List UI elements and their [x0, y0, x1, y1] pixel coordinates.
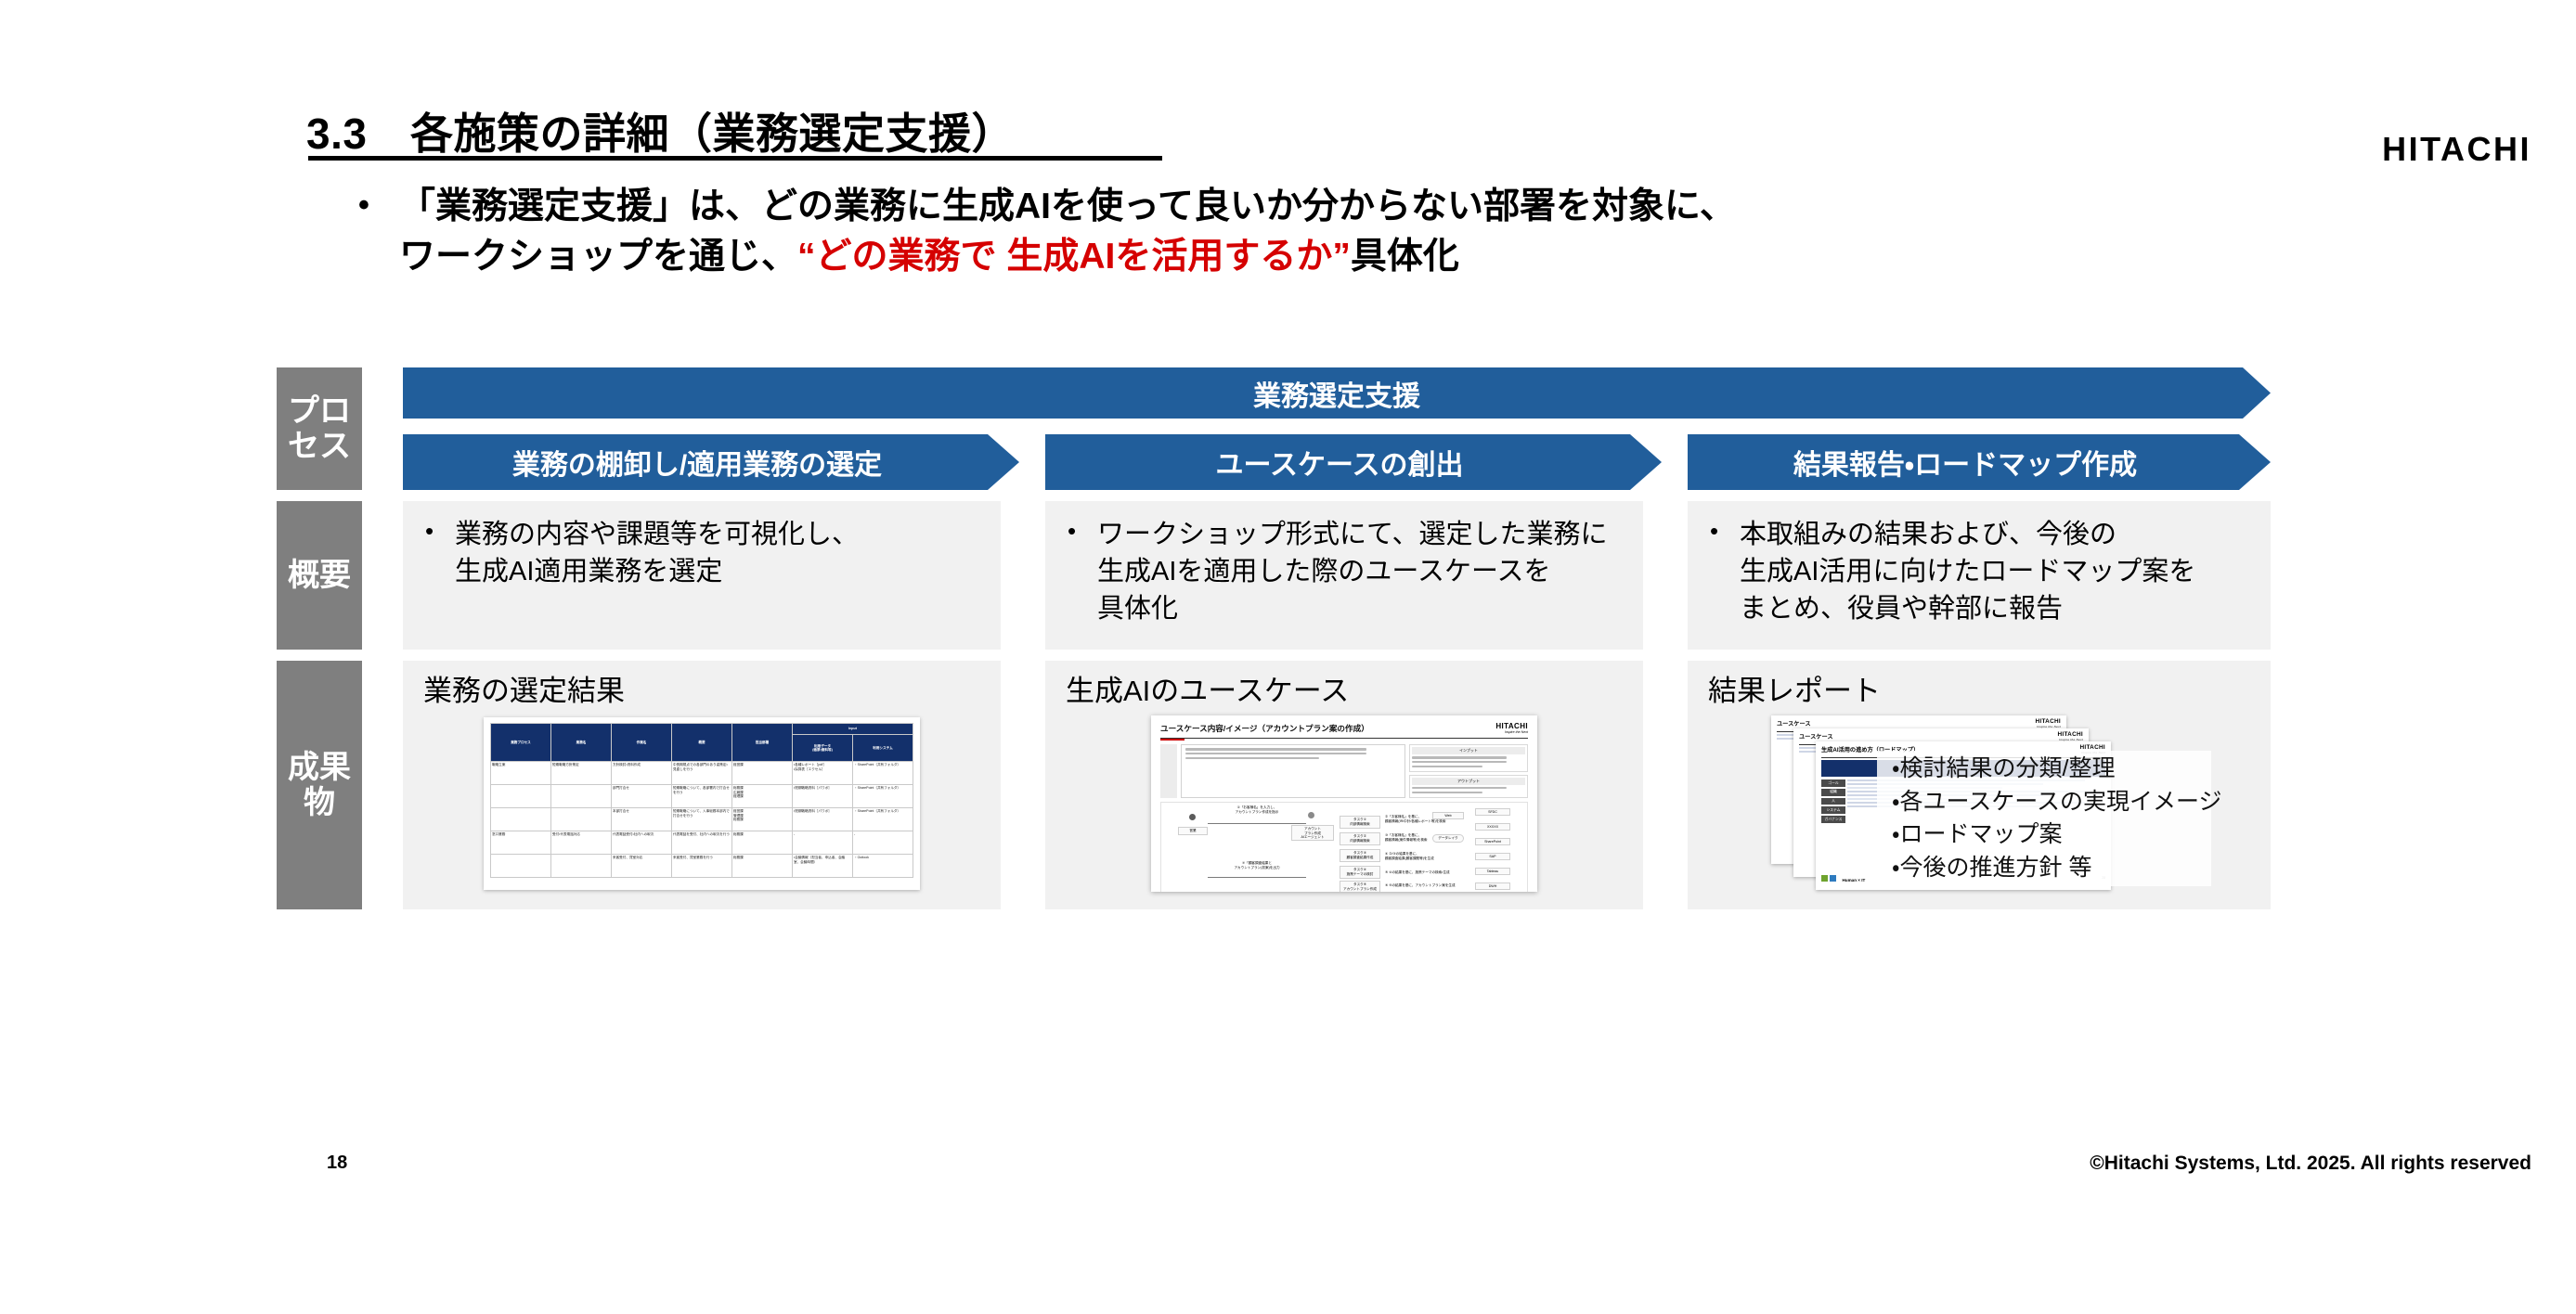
system-node-2: XXXXX — [1475, 823, 1510, 831]
system-node-3: SharePoint — [1475, 838, 1510, 845]
chip-governance: ガバナンス — [1821, 816, 1845, 823]
thumbnail-usecase-slide[interactable]: ユースケース内容/イメージ（アカウントプラン案の作成） HITACHIInspi… — [1151, 715, 1537, 892]
lead-line-1: 「業務選定支援」は、どの業務に生成AIを使って良いか分からない部署を対象に、 — [399, 187, 1736, 226]
table-row: 部門打合せ短期戦略について、各部署内で打合せを行う総務課 広報課 経理課・短期戦… — [491, 785, 913, 808]
matrix-row-overview: 概要 •業務の内容や課題等を可視化し、 生成AI適用業務を選定 •ワークショップ… — [277, 501, 2271, 650]
th-summary: 概要 — [672, 724, 732, 762]
deliverable-cell-3: 結果レポート ユースケース HITACHIInspire the Next — [1688, 661, 2271, 909]
usecase-flow-diagram: 営業 アカウント プラン作成 AIエージェント タスク① 内部情報検索 タスク②… — [1160, 802, 1528, 892]
step-text-5: ⑤ ④の結果を基に、施策テーマの検索・生成 — [1384, 870, 1471, 876]
matrix-row-deliverable: 成果物 業務の選定結果 業務プロセス 業務名 作業名 概要 — [277, 661, 2271, 909]
chip-system: システム — [1821, 806, 1845, 814]
system-node-4: SAP — [1475, 853, 1510, 860]
th-dept: 担当部署 — [732, 724, 793, 762]
logo-squares: Human × IT — [1821, 870, 1865, 886]
th-group-input: Input — [793, 724, 913, 735]
step-text-1: ①「お客様名」を入力し、 アカウントプラン作成を指示 — [1213, 805, 1301, 816]
chip-org: 組織 — [1821, 789, 1845, 796]
th-data: 利用データ (帳票・資料等) — [793, 735, 853, 762]
web-node: Web — [1432, 812, 1464, 819]
process-step-2[interactable]: ユースケースの創出 — [1045, 434, 1662, 490]
overview-text-2: ワークショップ形式にて、選定した業務に 生成AIを適用した際のユースケースを 具… — [1097, 520, 1608, 624]
th-taskname: 業務名 — [551, 724, 612, 762]
task-inventory-table: 業務プロセス 業務名 作業名 概要 担当部署 Input 利用データ (帳票・資… — [490, 723, 913, 878]
th-system: 利用システム — [853, 735, 913, 762]
system-node-1: SFDC — [1475, 808, 1510, 816]
bullet-glyph: • — [358, 184, 369, 227]
overlay-item-2: ・各ユースケースの実現イメージ — [1892, 786, 2211, 819]
overview-cell-3: •本取組みの結果および、今後の 生成AI活用に向けたロードマップ案を まとめ、役… — [1688, 501, 2271, 650]
hitachi-logo: HITACHI — [2382, 130, 2531, 169]
roadmap-chip-column: ゴール 組織 人 システム ガバナンス — [1821, 779, 1845, 825]
footer-copyright: ©Hitachi Systems, Ltd. 2025. All rights … — [2090, 1153, 2531, 1175]
row-label-deliverable: 成果物 — [277, 661, 362, 909]
input-box: インプット — [1409, 744, 1528, 772]
task-table-body: 戦略立案短期戦略方針策定方針検討・資料作成中長期視点での各部門のあり姿策定・見直… — [491, 762, 913, 878]
process-matrix: プロセス 業務選定支援 業務の棚卸し/適用業務の選定 ユースケースの創出 結果報… — [277, 367, 2271, 909]
title-underline — [308, 156, 1162, 161]
task-node-2: タスク② 内部情報検索 — [1340, 832, 1380, 845]
overlay-item-4: ・今後の推進方針 等 — [1892, 852, 2211, 885]
deliverable-cell-1: 業務の選定結果 業務プロセス 業務名 作業名 概要 担当部署 — [403, 661, 1001, 909]
person-icon — [1189, 814, 1196, 820]
actor-node: 営業 — [1178, 827, 1208, 835]
usecase-summary-box — [1181, 744, 1405, 798]
page-number: 18 — [327, 1153, 347, 1174]
divider — [1160, 738, 1528, 739]
bullet-glyph: • — [1710, 515, 1718, 548]
bullet-glyph: • — [425, 515, 434, 548]
task-node-4: タスク④ 施策テーマの検討 — [1340, 866, 1380, 879]
overlay-item-3: ・ロードマップ案 — [1892, 818, 2211, 852]
process-step-1[interactable]: 業務の棚卸し/適用業務の選定 — [403, 434, 1019, 490]
row-label-overview: 概要 — [277, 501, 362, 650]
process-step-3[interactable]: 結果報告・ロードマップ作成 — [1688, 434, 2271, 490]
hitachi-logo: HITACHIInspire the Next — [1495, 723, 1528, 734]
overview-cell-2: •ワークショップ形式にて、選定した業務に 生成AIを適用した際のユースケースを … — [1045, 501, 1643, 650]
th-process: 業務プロセス — [491, 724, 551, 762]
deliverable-title-2: 生成AIのユースケース — [1066, 674, 1626, 708]
row-label-process: プロセス — [277, 367, 362, 490]
th-workname: 作業名 — [612, 724, 672, 762]
hitachi-logo: HITACHIInspire the Next — [2057, 732, 2083, 741]
thumbnail-task-table[interactable]: 業務プロセス 業務名 作業名 概要 担当部署 Input 利用データ (帳票・資… — [484, 717, 920, 890]
step-text-6: ⑥ ⑤の結果を基に、アカウントプラン案を生成 — [1384, 882, 1471, 889]
deliverable-title-3: 結果レポート — [1708, 674, 2254, 708]
human-it-label: Human × IT — [1842, 878, 1865, 882]
table-row: 来客受付、貸室対応来客受付、貸室業務を行う総務課・会議情報（担当者、申込者、会議… — [491, 855, 913, 878]
datalake-node: データレイク — [1432, 834, 1464, 843]
lead-line-2-post: 具体化 — [1351, 237, 1459, 277]
lead-line-2-pre: ワークショップを通じ、 — [399, 237, 797, 277]
process-step-track: 業務の棚卸し/適用業務の選定 ユースケースの創出 結果報告・ロードマップ作成 — [403, 434, 2271, 490]
thumbnail-report-stack[interactable]: ユースケース HITACHIInspire the Next ユースケース HI… — [1738, 714, 2220, 895]
matrix-row-process: プロセス 業務選定支援 業務の棚卸し/適用業務の選定 ユースケースの創出 結果報… — [277, 367, 2271, 490]
system-node-6: DWH — [1475, 882, 1510, 890]
usecase-row-label — [1160, 744, 1177, 798]
overview-text-3: 本取組みの結果および、今後の 生成AI活用に向けたロードマップ案を まとめ、役員… — [1740, 520, 2195, 624]
task-node-5: タスク⑤ アカウントプラン作成 — [1340, 881, 1380, 892]
system-node-5: Tableau — [1475, 868, 1510, 875]
overview-cell-1: •業務の内容や課題等を可視化し、 生成AI適用業務を選定 — [403, 501, 1001, 650]
usecase-slide-title: ユースケース内容/イメージ（アカウントプラン案の作成） — [1160, 723, 1369, 734]
ai-agent-icon — [1308, 812, 1314, 818]
page-title: 3.3 各施策の詳細（業務選定支援） — [306, 100, 1015, 161]
overview-text-1: 業務の内容や課題等を可視化し、 生成AI適用業務を選定 — [455, 520, 859, 586]
lead-line-2-highlight: “どの業務で 生成AIを活用するか” — [797, 237, 1351, 277]
deliverable-cell-2: 生成AIのユースケース ユースケース内容/イメージ（アカウントプラン案の作成） … — [1045, 661, 1643, 909]
agent-node: アカウント プラン作成 AIエージェント — [1291, 825, 1334, 841]
output-label: アウトプット — [1412, 778, 1525, 785]
table-row: 戦略立案短期戦略方針策定方針検討・資料作成中長期視点での各部門のあり姿策定・見直… — [491, 762, 913, 785]
sheet-title-2: ユースケース — [1799, 732, 1833, 741]
step-text-4: ④ ②/③の結果を基に、 顧客調査結果(顧客課題等)を生成 — [1384, 851, 1471, 862]
chip-goal: ゴール — [1821, 779, 1845, 787]
report-overlay-list: ・検討結果の分類/整理 ・各ユースケースの実現イメージ ・ロードマップ案 ・今後… — [1877, 751, 2211, 886]
deliverable-title-1: 業務の選定結果 — [423, 674, 984, 708]
accent-bar — [1160, 739, 1184, 741]
lead-bullet-block: • 「業務選定支援」は、どの業務に生成AIを使って良いか分からない部署を対象に、… — [358, 182, 2271, 282]
bullet-glyph: • — [1068, 515, 1076, 548]
overlay-item-1: ・検討結果の分類/整理 — [1892, 753, 2211, 786]
task-node-1: タスク① 内部情報検索 — [1340, 816, 1380, 829]
table-row: 窓口業務受付・代表電話対応代表電話受付・社内への取次代表電話を受付、社内への取次… — [491, 831, 913, 855]
chip-people: 人 — [1821, 798, 1845, 805]
process-banner: 業務選定支援 — [403, 367, 2271, 419]
sheet-title-1: ユースケース — [1777, 719, 1811, 728]
input-label: インプット — [1412, 747, 1525, 754]
task-node-3: タスク③ 顧客調査結果作成 — [1340, 849, 1380, 862]
table-row: 本部打合せ短期戦略について、人事総務本部内で打合せを行う経営課 管理課 総務課・… — [491, 808, 913, 831]
output-box: アウトプット — [1409, 775, 1528, 798]
hitachi-logo: HITACHIInspire the Next — [2035, 719, 2061, 728]
step-text-7: ⑦「顧客調査結果と アカウントプラン(初案)を出力 — [1213, 860, 1301, 871]
